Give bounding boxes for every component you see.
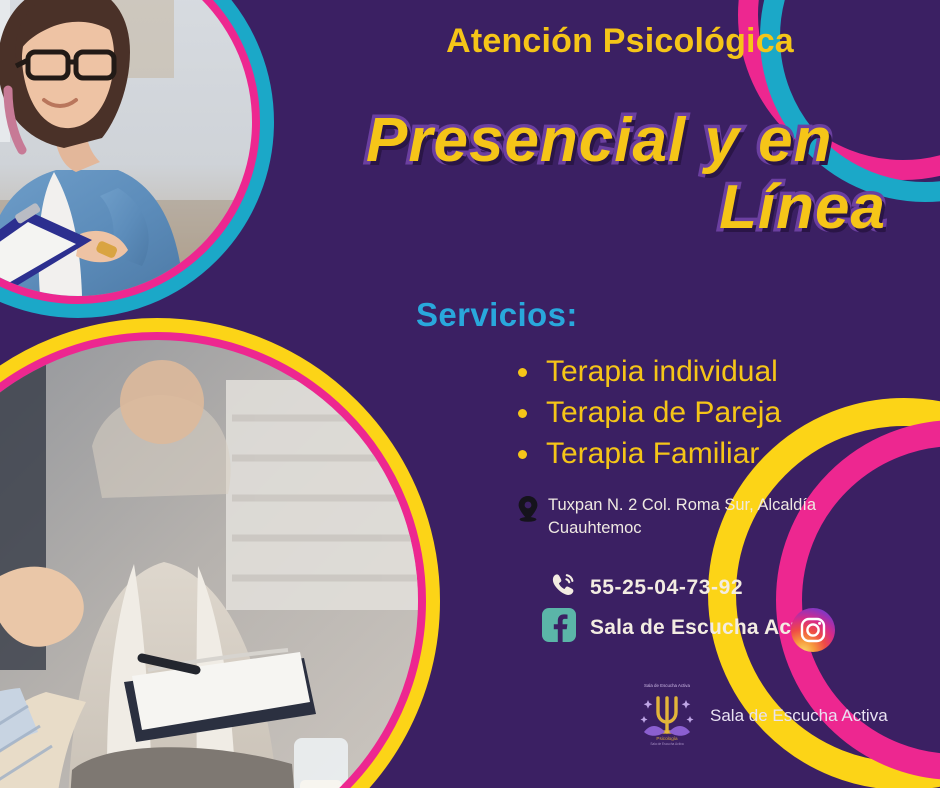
facebook-block[interactable]: Sala de Escucha Activa	[542, 608, 828, 647]
list-item: Terapia de Pareja	[512, 393, 781, 434]
svg-text:Psicología: Psicología	[656, 736, 678, 741]
location-pin-icon	[518, 496, 538, 541]
psi-hands-logo-icon: Sala de Escucha Activa Psicología Sala d…	[636, 678, 698, 753]
poster-canvas: Atención Psicológica Presencial y en Lín…	[0, 0, 940, 788]
facebook-icon[interactable]	[542, 608, 576, 647]
services-heading: Servicios:	[416, 296, 578, 334]
headline: Presencial y en Línea	[366, 108, 894, 242]
svg-text:Sala de Escucha Activa: Sala de Escucha Activa	[644, 683, 690, 688]
list-item: Terapia Familiar	[512, 434, 781, 475]
svg-text:Sala de Escucha Activa: Sala de Escucha Activa	[650, 742, 684, 746]
page-title: Atención Psicológica	[360, 22, 880, 61]
headline-line-2: Línea	[366, 175, 894, 242]
address-block: Tuxpan N. 2 Col. Roma Sur, Alcaldía Cuau…	[518, 494, 866, 541]
headline-line-1: Presencial y en	[366, 108, 894, 175]
brand-block: Sala de Escucha Activa Psicología Sala d…	[636, 678, 888, 753]
list-item: Terapia individual	[512, 352, 781, 393]
brand-name: Sala de Escucha Activa	[710, 706, 888, 726]
phone-number: 55-25-04-73-92	[590, 576, 743, 600]
phone-ringing-icon	[550, 572, 576, 603]
instagram-icon[interactable]	[791, 608, 835, 657]
address-text: Tuxpan N. 2 Col. Roma Sur, Alcaldía Cuau…	[548, 494, 866, 541]
services-list: Terapia individual Terapia de Pareja Ter…	[512, 352, 781, 474]
phone-block[interactable]: 55-25-04-73-92	[550, 572, 743, 603]
